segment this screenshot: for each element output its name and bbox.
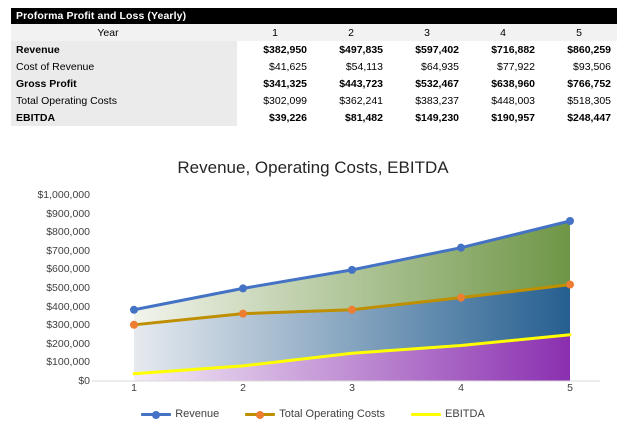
- x-axis-tick-label: 5: [567, 382, 573, 394]
- table-title-bar: Proforma Profit and Loss (Yearly): [11, 8, 617, 24]
- table-cell: $638,960: [465, 75, 541, 92]
- table-row-label: Cost of Revenue: [11, 58, 237, 75]
- chart-plot-area: $0$100,000$200,000$300,000$400,000$500,0…: [0, 150, 626, 395]
- legend-swatch-total-operating-costs: [245, 408, 275, 420]
- y-axis-tick-label: $1,000,000: [6, 189, 90, 201]
- table-cell: $54,113: [313, 58, 389, 75]
- table-row: Revenue$382,950$497,835$597,402$716,882$…: [11, 41, 617, 58]
- table-cell: $443,723: [313, 75, 389, 92]
- table-cell: $41,625: [237, 58, 313, 75]
- table-cell: $497,835: [313, 41, 389, 58]
- data-point-marker: [130, 321, 138, 329]
- legend-item-total-operating-costs[interactable]: Total Operating Costs: [245, 408, 385, 420]
- y-axis-labels: $0$100,000$200,000$300,000$400,000$500,0…: [6, 150, 90, 395]
- table-cell: $248,447: [541, 109, 617, 126]
- table-cell: $64,935: [389, 58, 465, 75]
- table-row: Total Operating Costs$302,099$362,241$38…: [11, 92, 617, 109]
- table-header-year-1: 1: [237, 24, 313, 41]
- table-header-year-3: 3: [389, 24, 465, 41]
- table-cell: $383,237: [389, 92, 465, 109]
- data-point-marker: [348, 306, 356, 314]
- chart-legend: Revenue Total Operating Costs EBITDA: [0, 408, 626, 420]
- data-point-marker: [239, 310, 247, 318]
- legend-label-revenue: Revenue: [175, 408, 219, 420]
- data-point-marker: [239, 284, 247, 292]
- table-cell: $860,259: [541, 41, 617, 58]
- x-axis-tick-label: 1: [131, 382, 137, 394]
- table-row: EBITDA$39,226$81,482$149,230$190,957$248…: [11, 109, 617, 126]
- y-axis-tick-label: $100,000: [6, 356, 90, 368]
- table-row-label: Revenue: [11, 41, 237, 58]
- table-cell: $362,241: [313, 92, 389, 109]
- y-axis-tick-label: $900,000: [6, 208, 90, 220]
- data-point-marker: [130, 306, 138, 314]
- y-axis-tick-label: $300,000: [6, 319, 90, 331]
- table-row: Gross Profit$341,325$443,723$532,467$638…: [11, 75, 617, 92]
- data-point-marker: [348, 266, 356, 274]
- table-row: Cost of Revenue$41,625$54,113$64,935$77,…: [11, 58, 617, 75]
- table-cell: $448,003: [465, 92, 541, 109]
- x-axis-tick-label: 4: [458, 382, 464, 394]
- x-axis-tick-label: 3: [349, 382, 355, 394]
- legend-label-total-operating-costs: Total Operating Costs: [279, 408, 385, 420]
- table-header-row: Year 1 2 3 4 5: [11, 24, 617, 41]
- table-cell: $766,752: [541, 75, 617, 92]
- table-header-year-4: 4: [465, 24, 541, 41]
- table-cell: $93,506: [541, 58, 617, 75]
- table-cell: $382,950: [237, 41, 313, 58]
- y-axis-tick-label: $600,000: [6, 263, 90, 275]
- table-header-year: Year: [11, 24, 237, 41]
- legend-swatch-revenue: [141, 408, 171, 420]
- table-row-label: EBITDA: [11, 109, 237, 126]
- data-point-marker: [457, 244, 465, 252]
- y-axis-tick-label: $700,000: [6, 245, 90, 257]
- table-cell: $77,922: [465, 58, 541, 75]
- x-axis-tick-label: 2: [240, 382, 246, 394]
- table-cell: $518,305: [541, 92, 617, 109]
- legend-item-ebitda[interactable]: EBITDA: [411, 408, 485, 420]
- y-axis-tick-label: $400,000: [6, 301, 90, 313]
- table-row-label: Gross Profit: [11, 75, 237, 92]
- y-axis-tick-label: $200,000: [6, 338, 90, 350]
- proforma-pl-table: Year 1 2 3 4 5 Revenue$382,950$497,835$5…: [11, 24, 617, 126]
- legend-swatch-ebitda: [411, 408, 441, 420]
- table-cell: $532,467: [389, 75, 465, 92]
- table-cell: $716,882: [465, 41, 541, 58]
- legend-label-ebitda: EBITDA: [445, 408, 485, 420]
- legend-item-revenue[interactable]: Revenue: [141, 408, 219, 420]
- y-axis-tick-label: $800,000: [6, 226, 90, 238]
- table-cell: $341,325: [237, 75, 313, 92]
- chart-panel: Revenue, Operating Costs, EBITDA $0$100,…: [0, 150, 626, 438]
- table-cell: $149,230: [389, 109, 465, 126]
- data-point-marker: [566, 217, 574, 225]
- table-cell: $302,099: [237, 92, 313, 109]
- table-header-year-5: 5: [541, 24, 617, 41]
- table-cell: $190,957: [465, 109, 541, 126]
- proforma-pl-table-block: Proforma Profit and Loss (Yearly) Year 1…: [11, 8, 617, 126]
- data-point-marker: [457, 294, 465, 302]
- chart-svg: [0, 150, 626, 395]
- x-axis-labels: 12345: [0, 382, 626, 402]
- y-axis-tick-label: $500,000: [6, 282, 90, 294]
- table-cell: $597,402: [389, 41, 465, 58]
- table-cell: $39,226: [237, 109, 313, 126]
- table-body: Revenue$382,950$497,835$597,402$716,882$…: [11, 41, 617, 126]
- table-header-year-2: 2: [313, 24, 389, 41]
- table-row-label: Total Operating Costs: [11, 92, 237, 109]
- data-point-marker: [566, 281, 574, 289]
- table-cell: $81,482: [313, 109, 389, 126]
